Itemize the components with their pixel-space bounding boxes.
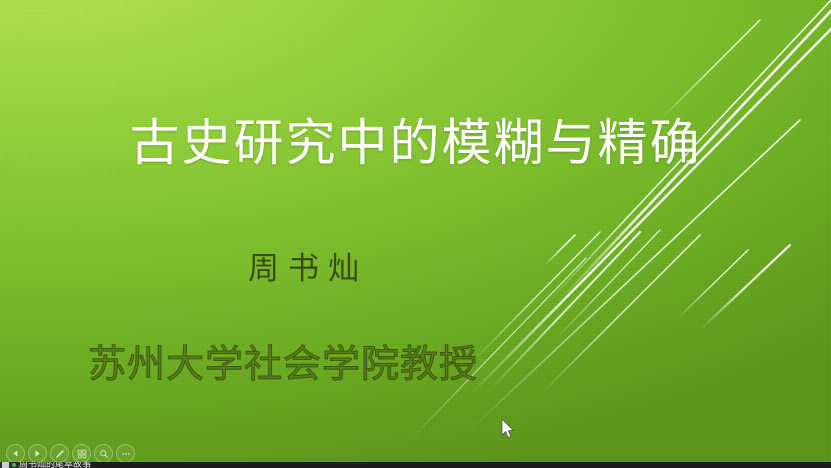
pen-icon xyxy=(55,449,65,459)
ellipsis-icon xyxy=(121,449,131,459)
magnifier-icon xyxy=(99,449,109,459)
slide-title: 古史研究中的模糊与精确 xyxy=(0,118,831,168)
slideshow-toolbar[interactable] xyxy=(6,444,135,462)
status-badge xyxy=(12,463,16,467)
pen-annotation-button[interactable] xyxy=(50,444,69,462)
all-slides-button[interactable] xyxy=(72,444,91,462)
mouse-cursor-icon xyxy=(501,419,515,439)
zoom-slide-button[interactable] xyxy=(94,444,113,462)
background-texture xyxy=(0,0,831,462)
taskbar-item-label: 周书灿的尾萃故事 xyxy=(19,462,91,468)
presentation-slide[interactable]: 古史研究中的模糊与精确 周书灿 苏州大学社会学院教授 xyxy=(0,0,831,462)
next-slide-button[interactable] xyxy=(28,444,47,462)
slide-affiliation: 苏州大学社会学院教授 xyxy=(88,345,478,383)
windows-taskbar[interactable]: 周书灿的尾萃故事 xyxy=(0,462,831,468)
slide-author: 周书灿 xyxy=(0,254,831,285)
app-icon xyxy=(2,462,9,468)
triangle-left-icon xyxy=(11,449,20,458)
taskbar-item[interactable]: 周书灿的尾萃故事 xyxy=(0,462,91,468)
screen: 古史研究中的模糊与精确 周书灿 苏州大学社会学院教授 xyxy=(0,0,831,468)
more-options-button[interactable] xyxy=(116,444,135,462)
grid-slides-icon xyxy=(77,449,87,459)
diagonal-streaks-decoration xyxy=(0,0,831,462)
triangle-right-icon xyxy=(33,449,42,458)
previous-slide-button[interactable] xyxy=(6,444,25,462)
